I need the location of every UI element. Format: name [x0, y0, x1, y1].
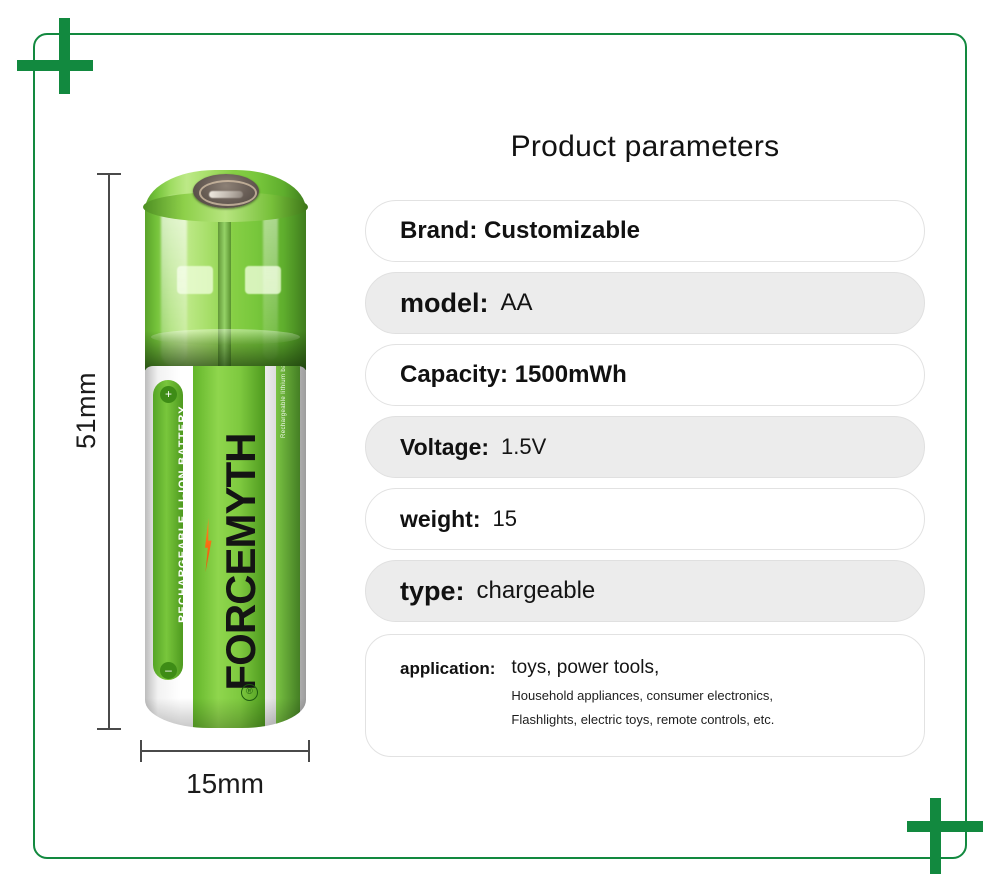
spec-row-capacity: Capacity: 1500mWh [365, 344, 925, 406]
battery-label-body: RECHARGEABLE LI-ION BATTERY + – FORCEMYT… [145, 366, 306, 728]
battery-micro-text: Rechargeable lithium battery 1.5V [281, 366, 287, 438]
application-line-3: Flashlights, electric toys, remote contr… [511, 712, 774, 727]
spec-row-model: model: AA [365, 272, 925, 334]
corner-bracket-top-left [17, 18, 93, 94]
spec-label-weight: weight: [400, 506, 481, 533]
application-line-1: toys, power tools, [511, 657, 774, 679]
battery-side-pill: RECHARGEABLE LI-ION BATTERY [153, 380, 183, 680]
width-dimension-label: 15mm [140, 768, 310, 800]
spec-value-type: chargeable [477, 577, 596, 605]
specs-panel: Product parameters Brand: Customizable m… [365, 130, 925, 757]
width-dimension-line [140, 750, 310, 752]
page-title: Product parameters [365, 130, 925, 164]
corner-bracket-bottom-right [907, 798, 983, 874]
spec-row-application: application: toys, power tools, Househol… [365, 634, 925, 757]
battery-plus-icon: + [160, 386, 177, 403]
battery-minus-icon: – [160, 662, 177, 679]
spec-label-capacity: Capacity: 1500mWh [400, 361, 627, 389]
spec-label-brand: Brand: Customizable [400, 217, 640, 245]
product-spec-page: 51mm RECHARGEABLE LI-ION BATTERY [0, 0, 1000, 892]
height-dimension-line [108, 173, 110, 730]
application-line-2: Household appliances, consumer electroni… [511, 688, 774, 703]
spec-label-voltage: Voltage: [400, 434, 489, 461]
battery-brand-text: FORCEMYTH [217, 402, 265, 722]
spec-value-voltage: 1.5V [501, 434, 546, 460]
battery-positive-terminal [193, 174, 259, 208]
spec-value-application: toys, power tools, Household appliances,… [511, 657, 774, 736]
spec-row-weight: weight: 15 [365, 488, 925, 550]
spec-label-model: model: [400, 288, 489, 319]
spec-row-voltage: Voltage: 1.5V [365, 416, 925, 478]
spec-label-application: application: [400, 657, 495, 679]
height-dimension-label: 51mm [71, 372, 102, 449]
battery-illustration: RECHARGEABLE LI-ION BATTERY + – FORCEMYT… [138, 170, 313, 735]
spec-value-model: AA [501, 289, 533, 317]
battery-side-text: RECHARGEABLE LI-ION BATTERY [177, 380, 189, 648]
product-image-panel: 51mm RECHARGEABLE LI-ION BATTERY [60, 150, 350, 830]
spec-value-weight: 15 [493, 506, 517, 532]
spec-label-type: type: [400, 576, 465, 607]
spec-row-brand: Brand: Customizable [365, 200, 925, 262]
spec-row-type: type: chargeable [365, 560, 925, 622]
